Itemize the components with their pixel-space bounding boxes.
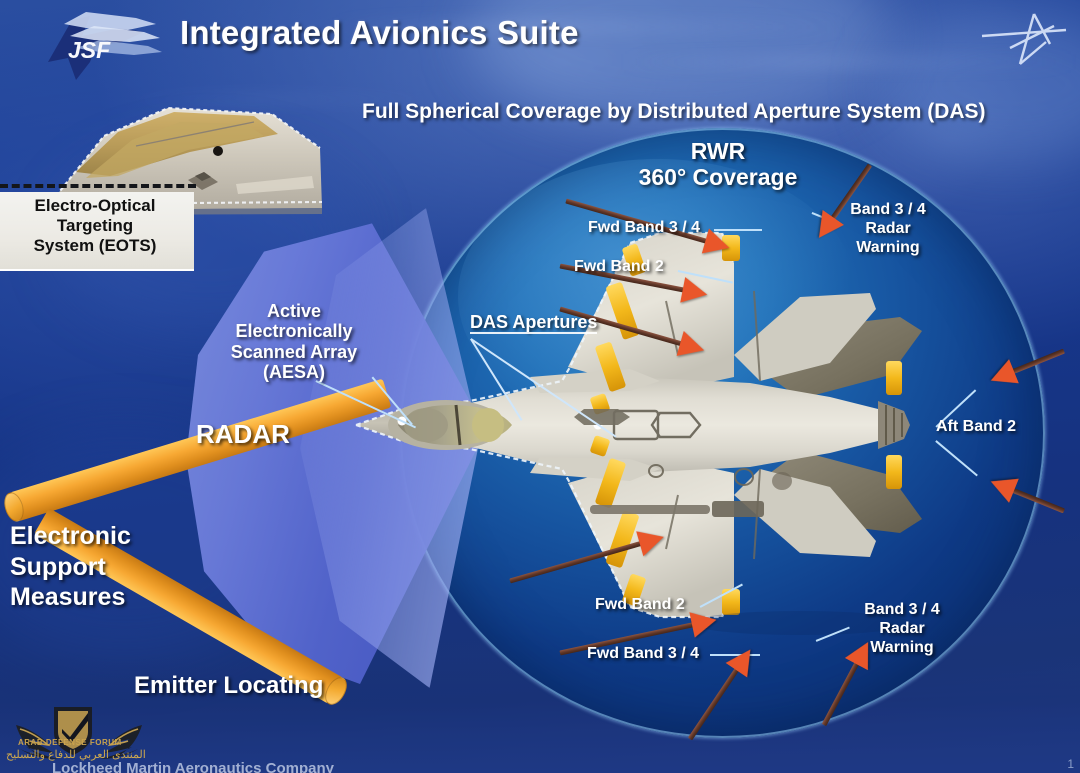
fwd-band-34-top-callout: Fwd Band 3 / 4 xyxy=(588,219,700,237)
b34rw-top-line-2: Radar xyxy=(828,219,948,238)
eots-line-1: Electro-Optical xyxy=(0,196,190,216)
eots-dashed-divider xyxy=(0,184,196,188)
lockheed-martin-star-icon xyxy=(980,8,1072,68)
aft-band-2-callout: Aft Band 2 xyxy=(936,418,1016,436)
rwr-callout: RWR 360° Coverage xyxy=(608,138,828,190)
eots-line-3: System (EOTS) xyxy=(0,236,190,256)
slide-canvas: JSF Integrated Avionics Suite Full Spher… xyxy=(0,0,1080,773)
band-34-radar-warning-bottom-callout: Band 3 / 4 Radar Warning xyxy=(843,600,961,658)
rwr-line-2: 360° Coverage xyxy=(608,164,828,190)
eots-line-2: Targeting xyxy=(0,216,190,236)
b34rw-bottom-line-3: Warning xyxy=(843,638,961,657)
company-footer: Lockheed Martin Aeronautics Company xyxy=(52,760,334,773)
fwd-band-34-bottom-callout: Fwd Band 3 / 4 xyxy=(587,645,699,663)
page-title: Integrated Avionics Suite xyxy=(180,14,579,52)
aesa-line-3: Scanned Array xyxy=(214,342,374,362)
eots-callout: Electro-Optical Targeting System (EOTS) xyxy=(0,196,190,256)
page-number: 1 xyxy=(1067,757,1074,771)
fwd-band-2-top-callout: Fwd Band 2 xyxy=(574,258,664,276)
b34rw-bottom-line-2: Radar xyxy=(843,619,961,638)
aesa-line-2: Electronically xyxy=(214,321,374,341)
leader-fwd34-top xyxy=(714,229,762,231)
aesa-line-4: (AESA) xyxy=(214,362,374,382)
b34rw-top-line-3: Warning xyxy=(828,238,948,257)
das-apertures-callout: DAS Apertures xyxy=(470,312,597,332)
b34rw-bottom-line-1: Band 3 / 4 xyxy=(843,600,961,619)
slide-subtitle: Full Spherical Coverage by Distributed A… xyxy=(362,100,986,124)
band-34-radar-warning-top-callout: Band 3 / 4 Radar Warning xyxy=(828,200,948,258)
emitter-locating-callout: Emitter Locating xyxy=(134,672,323,699)
esm-callout: Electronic Support Measures xyxy=(10,521,131,613)
fwd-band-2-bottom-callout: Fwd Band 2 xyxy=(595,596,685,614)
jsf-logo: JSF xyxy=(24,2,164,84)
esm-line-2: Support xyxy=(10,552,131,583)
aesa-callout: Active Electronically Scanned Array (AES… xyxy=(214,301,374,382)
rwr-line-1: RWR xyxy=(608,138,828,164)
svg-text:JSF: JSF xyxy=(68,37,111,63)
watermark-line-1: ARAB DEFENSE FORUM xyxy=(18,738,122,747)
radar-callout: RADAR xyxy=(196,420,290,449)
b34rw-top-line-1: Band 3 / 4 xyxy=(828,200,948,219)
esm-line-3: Measures xyxy=(10,582,131,613)
esm-line-1: Electronic xyxy=(10,521,131,552)
aesa-line-1: Active xyxy=(214,301,374,321)
